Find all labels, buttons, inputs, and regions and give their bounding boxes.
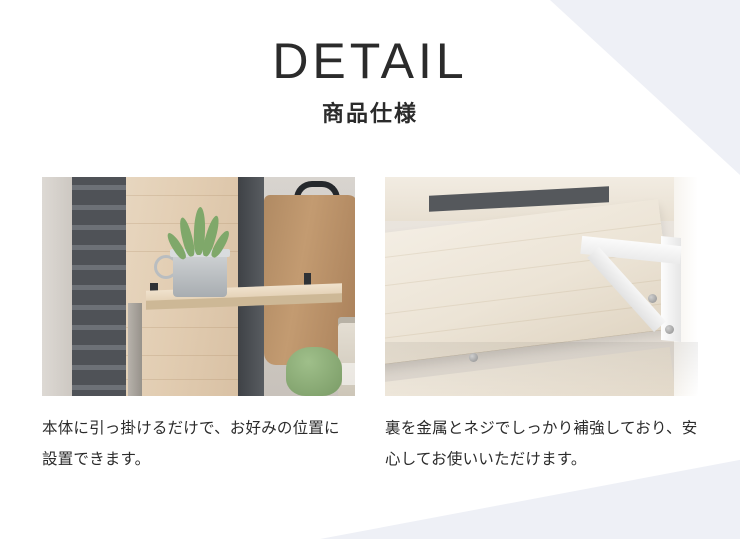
page-title-japanese: 商品仕様 bbox=[0, 90, 740, 130]
detail-card-left: 本体に引っ掛けるだけで、お好みの位置に設置できます。 bbox=[42, 177, 355, 475]
detail-card-left-caption: 本体に引っ掛けるだけで、お好みの位置に設置できます。 bbox=[42, 396, 355, 475]
metal-plant-pot bbox=[173, 253, 227, 297]
bracket-screw bbox=[648, 294, 657, 303]
panel-screw bbox=[469, 353, 478, 362]
bracket-screw bbox=[665, 325, 674, 334]
jar-label bbox=[342, 363, 355, 385]
detail-spec-page: DETAIL 商品仕様 bbox=[0, 0, 740, 539]
lower-plant bbox=[286, 347, 342, 396]
shelf-hook-installation-photo bbox=[42, 177, 355, 396]
wall-panel bbox=[42, 177, 72, 396]
metal-bracket-reinforcement-photo bbox=[385, 177, 698, 396]
page-header: DETAIL 商品仕様 bbox=[0, 0, 740, 130]
vertical-frame-pole bbox=[128, 303, 142, 396]
detail-card-right-caption: 裏を金属とネジでしっかり補強しており、安心してお使いいただけます。 bbox=[385, 396, 698, 475]
photo-bottom-shadow bbox=[385, 342, 698, 396]
detail-card-right: 裏を金属とネジでしっかり補強しており、安心してお使いいただけます。 bbox=[385, 177, 698, 475]
page-title-english: DETAIL bbox=[0, 0, 740, 90]
